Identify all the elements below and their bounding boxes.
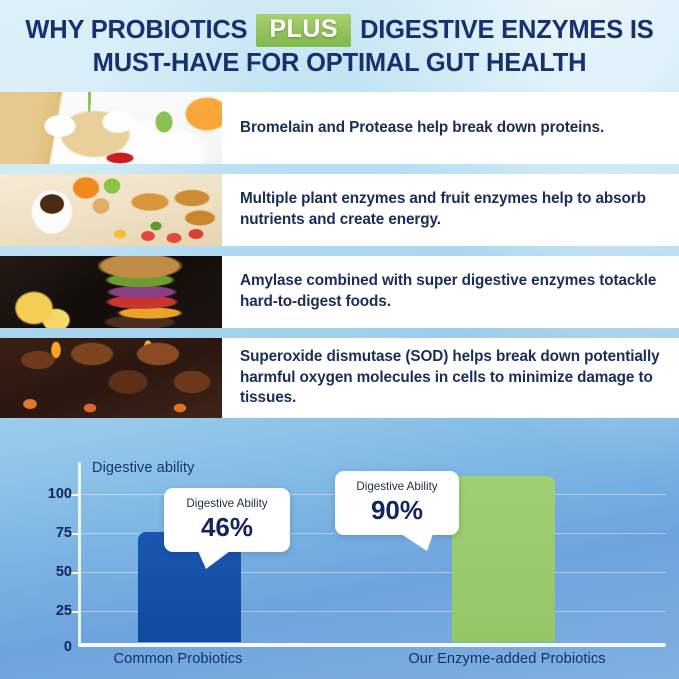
callout-value-2: 90%: [349, 496, 445, 525]
bar-enzyme-added-probiotics: [452, 476, 555, 642]
benefit-row: Amylase combined with super digestive en…: [0, 256, 679, 328]
xlabel-common-probiotics: Common Probiotics: [58, 651, 298, 667]
benefit-row: Superoxide dismutase (SOD) helps break d…: [0, 338, 679, 418]
callout-tail-1: [198, 551, 230, 569]
eggs-on-toast-photo: [0, 92, 222, 164]
benefit-text-2: Multiple plant enzymes and fruit enzymes…: [222, 174, 679, 246]
headline-part-2: DIGESTIVE ENZYMES IS: [360, 17, 654, 45]
callout-label-2: Digestive Ability: [349, 480, 445, 494]
plus-badge: PLUS: [256, 14, 351, 47]
infographic-root: WHY PROBIOTICS PLUS DIGESTIVE ENZYMES IS…: [0, 0, 679, 679]
xlabel-enzyme-added-probiotics: Our Enzyme-added Probiotics: [372, 651, 642, 667]
callout-common-probiotics: Digestive Ability 46%: [164, 488, 290, 552]
header-title-block: WHY PROBIOTICS PLUS DIGESTIVE ENZYMES IS…: [0, 0, 679, 92]
y-axis-tick-labels: 100 75 50 25 0: [36, 462, 72, 646]
benefit-image-3: [0, 256, 222, 328]
callout-enzyme-added-probiotics: Digestive Ability 90%: [335, 471, 459, 535]
ytick-label-25: 25: [56, 603, 72, 619]
benefit-text-4: Superoxide dismutase (SOD) helps break d…: [222, 338, 679, 418]
chart-y-axis: [78, 462, 81, 646]
callout-label-1: Digestive Ability: [178, 497, 276, 511]
benefit-rows: Bromelain and Protease help break down p…: [0, 92, 679, 428]
benefit-text-3: Amylase combined with super digestive en…: [222, 256, 679, 328]
benefit-image-2: [0, 174, 222, 246]
callout-value-1: 46%: [178, 513, 276, 542]
benefit-image-1: [0, 92, 222, 164]
breakfast-spread-photo: [0, 174, 222, 246]
benefit-text-1: Bromelain and Protease help break down p…: [222, 92, 679, 164]
benefit-image-4: [0, 338, 222, 418]
chart-x-axis: [78, 643, 666, 647]
grilled-steak-photo: [0, 338, 222, 418]
ytick-label-75: 75: [56, 525, 72, 541]
callout-tail-2: [401, 534, 433, 551]
digestive-ability-bar-chart: Digestive ability 100 75 50 25 0: [0, 455, 679, 679]
ytick-label-50: 50: [56, 564, 72, 580]
headline-part-1: WHY PROBIOTICS: [25, 17, 247, 45]
benefit-row: Bromelain and Protease help break down p…: [0, 92, 679, 164]
headline-line-1: WHY PROBIOTICS PLUS DIGESTIVE ENZYMES IS: [25, 15, 653, 48]
burger-photo: [0, 256, 222, 328]
benefit-row: Multiple plant enzymes and fruit enzymes…: [0, 174, 679, 246]
ytick-label-100: 100: [48, 486, 72, 502]
headline-line-2: MUST-HAVE FOR OPTIMAL GUT HEALTH: [93, 50, 587, 78]
